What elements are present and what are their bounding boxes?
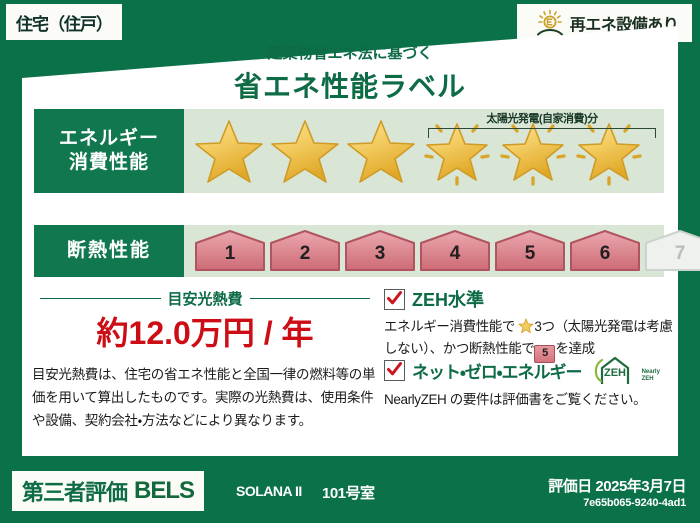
evaluation-id: 7e65b065-9240-4ad1 bbox=[583, 497, 686, 509]
grade-number: 7 bbox=[644, 243, 700, 265]
svg-text:ZEH: ZEH bbox=[604, 367, 626, 379]
star-icon-inline bbox=[518, 318, 534, 334]
title-subline: 建築物省エネ法に基づく bbox=[0, 42, 700, 63]
grade-badge: 5 bbox=[494, 229, 566, 273]
zeh-standard-heading: ZEH水準 bbox=[384, 286, 676, 312]
insulation-grade-scale: 1 2 3 4 5 6 7 bbox=[184, 229, 700, 273]
bels-certification-chip: 第三者評価 BELS bbox=[12, 471, 204, 511]
net-zero-body: NearlyZEH の要件は評価書をご覧ください。 bbox=[384, 389, 676, 411]
zeh-sub-line1: Nearly bbox=[642, 369, 660, 375]
checkbox-checked[interactable] bbox=[384, 289, 405, 310]
grade-number: 4 bbox=[419, 243, 491, 265]
bels-energy-label: 住宅（住戸） 再エネ設備あり 建築物省エネ法に基づ bbox=[0, 0, 700, 523]
utility-cost-heading-text: 目安光熱費 bbox=[168, 288, 243, 309]
heading-rule-right bbox=[250, 298, 371, 300]
grade-badge: 3 bbox=[344, 229, 416, 273]
star-icon bbox=[192, 116, 266, 186]
label-footer: 第三者評価 BELS SOLANA II 101号室 評価日 2025年3月7日… bbox=[0, 461, 700, 523]
heading-rule-left bbox=[40, 298, 161, 300]
grade-number: 1 bbox=[194, 243, 266, 265]
zeh-house-logo-icon: ZEH bbox=[592, 355, 634, 385]
zeh-standard-title: ZEH水準 bbox=[412, 286, 484, 312]
building-name: SOLANA II bbox=[236, 483, 302, 499]
net-zero-energy-block: ネット・ゼロ・エネルギー ZEH Nearly ZEH NearlyZEH の要… bbox=[384, 355, 676, 411]
star-icon bbox=[268, 116, 342, 186]
zeh-standard-block: ZEH水準 エネルギー消費性能で 3つ（太陽光発電は考慮しない）、かつ断熱性能で… bbox=[384, 286, 676, 363]
grade-number: 6 bbox=[569, 243, 641, 265]
utility-cost-note: 目安光熱費は、住宅の省エネ性能と全国一律の燃料等の単価を用いて算出したものです。… bbox=[32, 363, 380, 433]
zeh-sub-line2: ZEH bbox=[642, 376, 654, 382]
insulation-performance-label: 断熱性能 bbox=[34, 225, 184, 277]
evaluation-date: 評価日 2025年3月7日 bbox=[548, 475, 686, 496]
energy-star-rating bbox=[184, 116, 646, 186]
grade-badge: 1 bbox=[194, 229, 266, 273]
grade-badge: 6 bbox=[569, 229, 641, 273]
net-zero-heading: ネット・ゼロ・エネルギー ZEH Nearly ZEH bbox=[384, 355, 676, 385]
grade-badge: 2 bbox=[269, 229, 341, 273]
label-title: 建築物省エネ法に基づく 省エネ性能ラベル bbox=[0, 42, 700, 105]
grade-number: 3 bbox=[344, 243, 416, 265]
zeh-logo-sublabel: Nearly ZEH bbox=[642, 369, 660, 382]
energy-label-line1: エネルギー bbox=[59, 127, 159, 151]
grade-number: 2 bbox=[269, 243, 341, 265]
net-zero-title: ネット・ゼロ・エネルギー bbox=[412, 358, 582, 383]
grade-number: 5 bbox=[494, 243, 566, 265]
solar-sun-icon bbox=[535, 9, 565, 37]
insulation-performance-row: 断熱性能 1 2 3 4 bbox=[34, 225, 664, 277]
star-icon-solar bbox=[420, 116, 494, 186]
checkbox-checked[interactable] bbox=[384, 360, 405, 381]
dwelling-type-text: 住宅（住戸） bbox=[16, 10, 112, 35]
star-icon-solar bbox=[496, 116, 570, 186]
energy-performance-label: エネルギー 消費性能 bbox=[34, 109, 184, 193]
insulation-label-text: 断熱性能 bbox=[67, 239, 151, 263]
star-icon-solar bbox=[572, 116, 646, 186]
energy-performance-row: エネルギー 消費性能 bbox=[34, 109, 664, 193]
title-main: 省エネ性能ラベル bbox=[0, 65, 700, 105]
grade-badge-inactive: 7 bbox=[644, 229, 700, 273]
bels-label-ja: 第三者評価 bbox=[22, 475, 127, 507]
energy-label-line2: 消費性能 bbox=[69, 151, 149, 175]
dwelling-type-chip: 住宅（住戸） bbox=[6, 4, 122, 40]
bels-label-en: BELS bbox=[134, 477, 194, 505]
zeh-body-text-3: を達成 bbox=[555, 341, 594, 356]
star-icon bbox=[344, 116, 418, 186]
unit-number: 101号室 bbox=[322, 482, 375, 503]
zeh-body-text-1: エネルギー消費性能で bbox=[384, 319, 515, 334]
utility-cost-value: 約12.0万円 / 年 bbox=[40, 308, 370, 354]
utility-cost-heading: 目安光熱費 bbox=[40, 288, 370, 309]
grade-badge: 4 bbox=[419, 229, 491, 273]
